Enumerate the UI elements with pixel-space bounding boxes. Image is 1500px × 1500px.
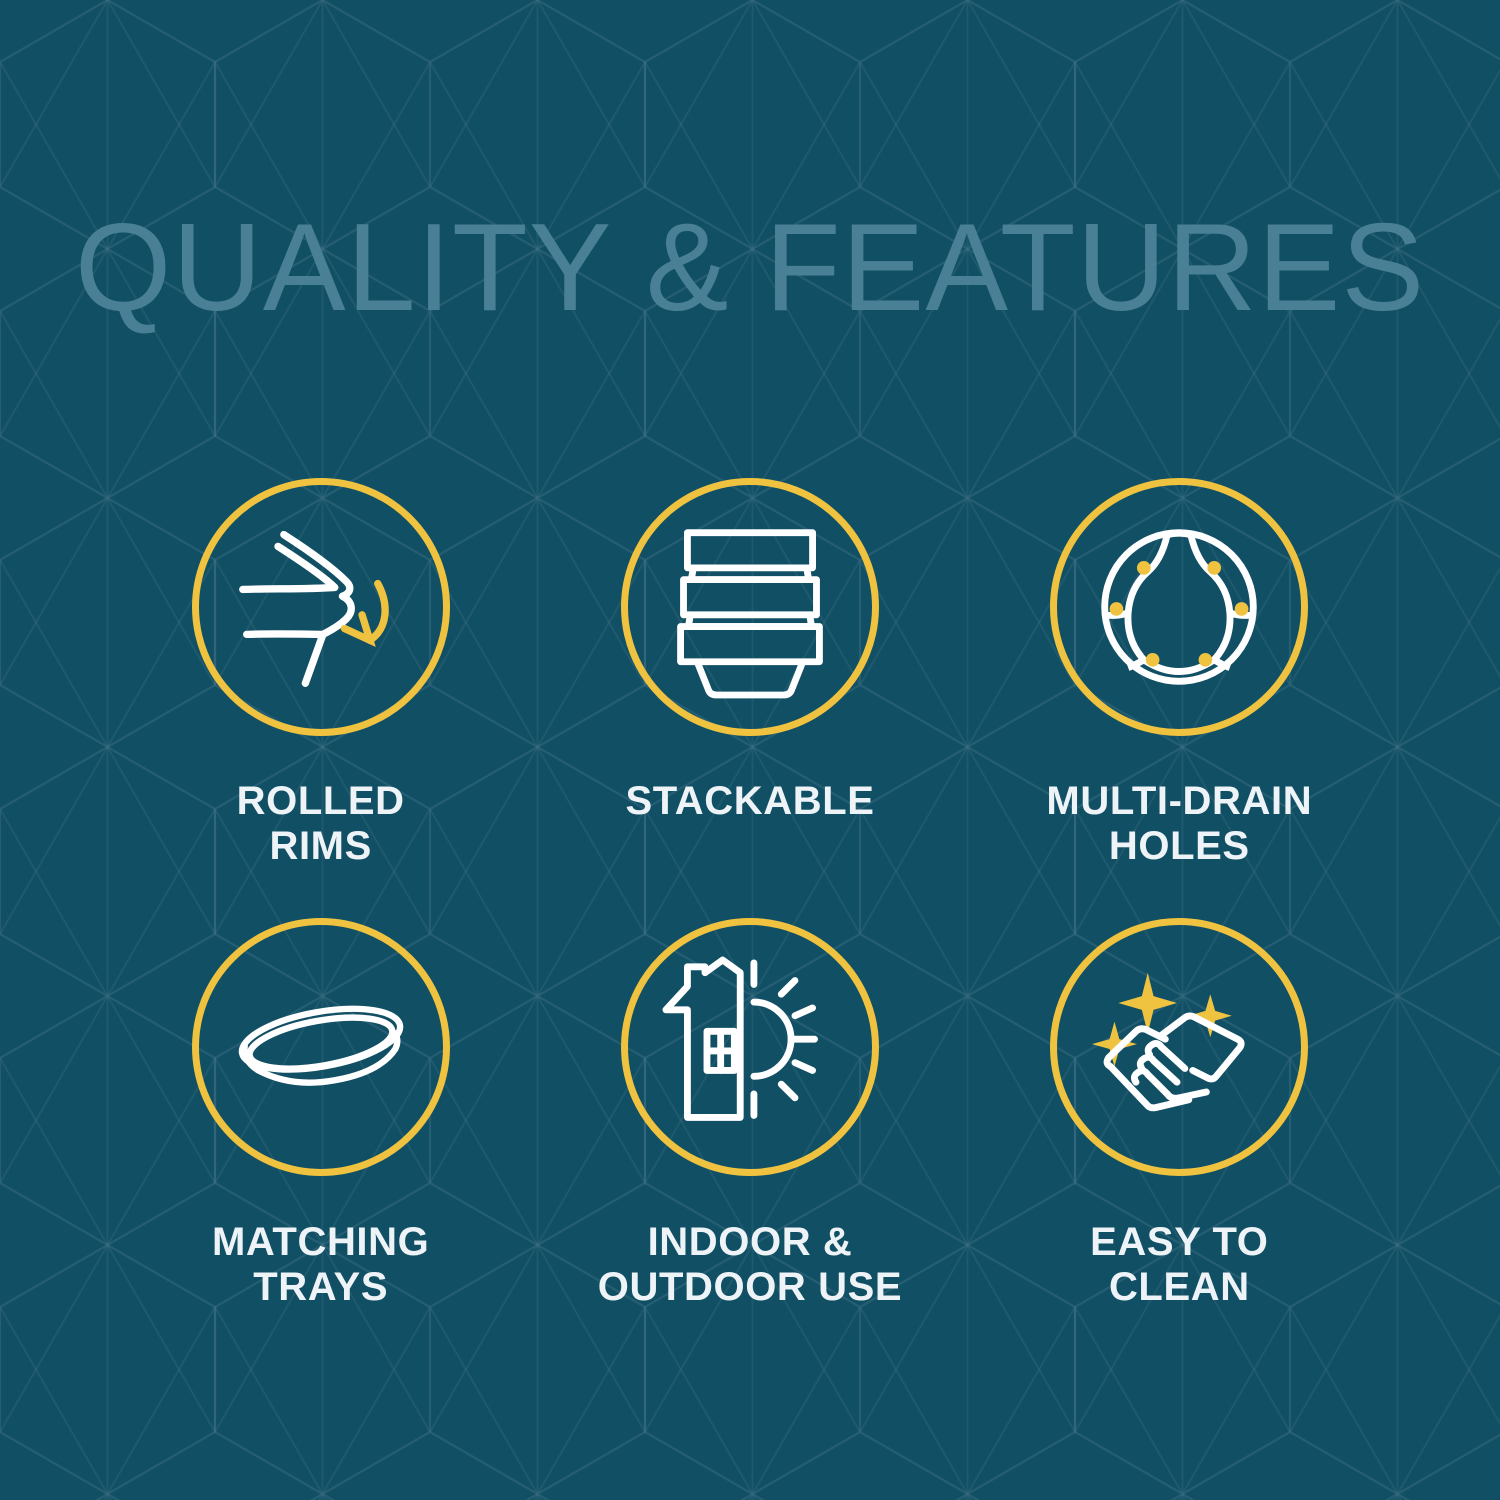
hand-wiping-sparkles-icon	[1091, 959, 1267, 1135]
icon-ring-stackable	[621, 478, 879, 736]
feature-grid: ROLLED RIMS STACKABLE	[106, 478, 1394, 1358]
feature-item-rolled-rims: ROLLED RIMS	[106, 478, 535, 918]
oval-tray-icon	[233, 959, 409, 1135]
feature-item-easy-to-clean: EASY TO CLEAN	[965, 918, 1394, 1358]
pot-base-drain-holes-icon	[1091, 519, 1267, 695]
feature-label-stackable: STACKABLE	[625, 779, 874, 824]
page-title: QUALITY & FEATURES	[0, 206, 1500, 330]
stacked-pots-icon	[662, 519, 838, 695]
house-and-sun-icon	[662, 959, 838, 1135]
feature-item-indoor-outdoor-use: INDOOR & OUTDOOR USE	[535, 918, 964, 1358]
feature-item-matching-trays: MATCHING TRAYS	[106, 918, 535, 1358]
icon-ring-easy-to-clean	[1050, 918, 1308, 1176]
feature-item-multi-drain-holes: MULTI-DRAIN HOLES	[965, 478, 1394, 918]
icon-ring-multi-drain-holes	[1050, 478, 1308, 736]
feature-label-multi-drain-holes: MULTI-DRAIN HOLES	[1046, 779, 1312, 869]
rolled-rim-icon	[233, 519, 409, 695]
feature-label-rolled-rims: ROLLED RIMS	[237, 779, 405, 869]
feature-item-stackable: STACKABLE	[535, 478, 964, 918]
feature-label-easy-to-clean: EASY TO CLEAN	[1090, 1220, 1268, 1310]
feature-label-matching-trays: MATCHING TRAYS	[212, 1220, 429, 1310]
quality-and-features-infographic: QUALITY & FEATURES	[0, 0, 1500, 1500]
icon-ring-rolled-rims	[192, 478, 450, 736]
feature-label-indoor-outdoor-use: INDOOR & OUTDOOR USE	[598, 1220, 902, 1310]
icon-ring-indoor-outdoor-use	[621, 918, 879, 1176]
icon-ring-matching-trays	[192, 918, 450, 1176]
